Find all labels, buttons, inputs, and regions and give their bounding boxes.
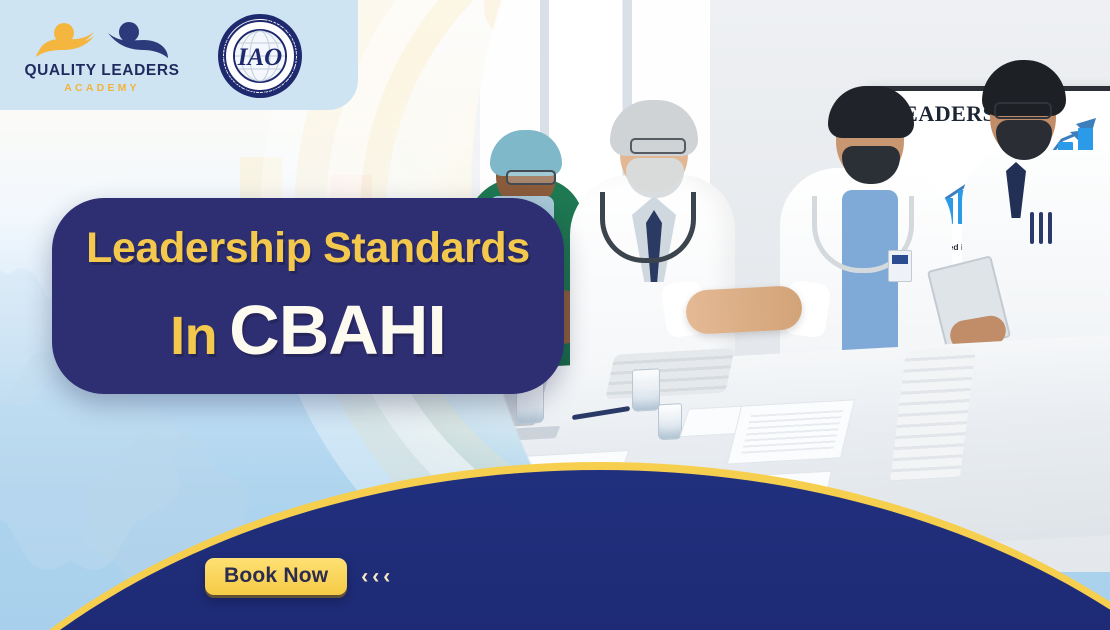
iao-abbreviation: IAO xyxy=(237,44,282,71)
handshake xyxy=(685,285,803,335)
cta-row: Book Now ‹ ‹ ‹ xyxy=(205,558,390,594)
pocket-pens-icon xyxy=(1030,212,1060,246)
chevron-left-icon: ‹ xyxy=(372,566,379,587)
office-chair xyxy=(605,348,734,399)
quality-leaders-academy-logo[interactable]: QUALITY LEADERS ACADEMY xyxy=(14,22,190,98)
academy-subtitle: ACADEMY xyxy=(14,82,190,94)
title-card: Leadership Standards InCBAHI xyxy=(52,198,564,394)
eyeglasses-icon xyxy=(506,170,556,185)
eyeglasses-icon xyxy=(994,102,1052,119)
water-glass xyxy=(658,403,682,440)
water-glass xyxy=(632,368,660,412)
document-text-lines xyxy=(741,410,843,456)
title-keyword: CBAHI xyxy=(229,291,446,369)
chevron-left-icons: ‹ ‹ ‹ xyxy=(361,566,390,587)
pen xyxy=(572,406,630,420)
office-chair xyxy=(890,347,976,482)
chevron-left-icon: ‹ xyxy=(383,566,390,587)
header-panel: QUALITY LEADERS ACADEMY INTERNATIONAL AC… xyxy=(0,0,358,110)
academy-name: QUALITY LEADERS xyxy=(14,62,190,80)
iao-globe-seal-icon[interactable]: INTERNATIONAL ACCREDITATION ORGANIZATION… xyxy=(212,12,308,100)
eyeglasses-icon xyxy=(630,138,686,154)
title-line-1: Leadership Standards xyxy=(52,224,564,273)
chevron-left-icon: ‹ xyxy=(361,566,368,587)
title-line-2: InCBAHI xyxy=(52,290,564,370)
title-preposition: In xyxy=(170,306,217,366)
promo-banner: LEADERSHIP Rooted in Purpose. Led by Com… xyxy=(0,0,1110,630)
id-badge xyxy=(888,250,912,282)
book-now-button[interactable]: Book Now xyxy=(205,558,347,595)
two-people-logo-icon xyxy=(28,22,178,62)
